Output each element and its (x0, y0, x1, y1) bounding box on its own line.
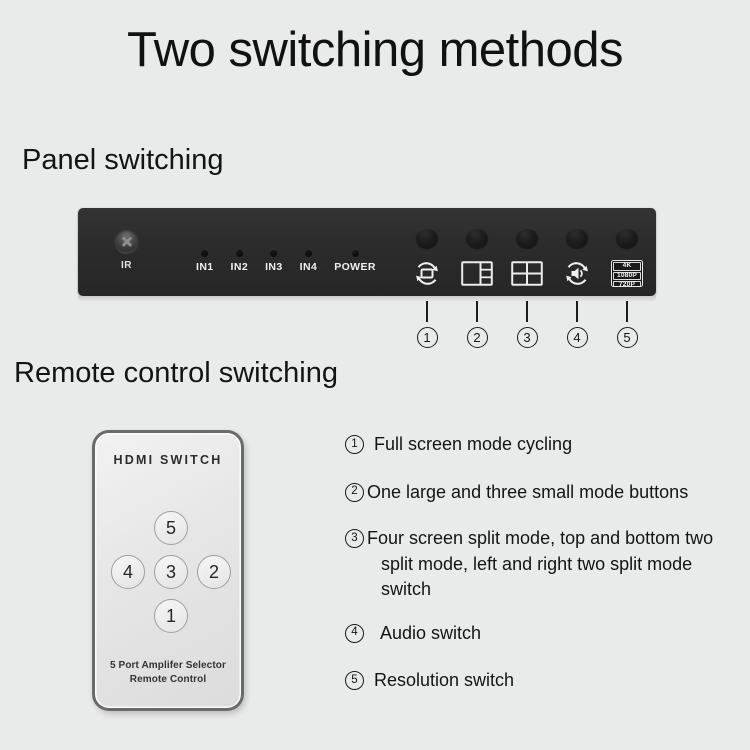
legend-item-2: 2 One large and three small mode buttons (345, 480, 745, 506)
legend-item-3: 3 Four screen split mode, top and bottom… (345, 526, 745, 603)
callout-leader-line (626, 301, 629, 322)
legend-label: Audio switch (380, 621, 481, 647)
remote-footer-line-1: 5 Port Amplifer Selector (110, 660, 226, 671)
led-indicator-power: POWER (334, 250, 376, 273)
one-large-three-small-layout-icon (461, 260, 493, 287)
led-dot-icon (305, 250, 312, 257)
button-cap[interactable] (566, 228, 588, 248)
button-cap[interactable] (516, 228, 538, 248)
legend-list: 1 Full screen mode cycling 2 One large a… (345, 432, 745, 713)
panel-button-one-large-three-small[interactable] (462, 228, 492, 287)
callout-2: 2 (462, 301, 492, 348)
ir-sensor-icon (114, 229, 139, 254)
remote-keypad: 5 4 3 2 1 (95, 511, 241, 636)
led-dot-icon (236, 250, 243, 257)
resolution-line-1080p: 1080P (613, 272, 641, 281)
led-dot-icon (270, 250, 277, 257)
legend-item-1: 1 Full screen mode cycling (345, 432, 745, 458)
led-indicator-in4: IN4 (300, 250, 318, 273)
infographic-page: Two switching methods Panel switching IR… (0, 0, 750, 750)
callout-5: 5 (612, 301, 642, 348)
led-indicator-in3: IN3 (265, 250, 283, 273)
led-dot-icon (201, 250, 208, 257)
panel-button-resolution-switch[interactable]: 4K 1080P 720P (612, 228, 642, 287)
legend-label: Full screen mode cycling (374, 432, 572, 458)
led-indicator-in1: IN1 (196, 250, 214, 273)
remote-key-1[interactable]: 1 (154, 599, 188, 633)
legend-number: 3 (345, 529, 364, 548)
panel-button-audio-switch[interactable] (562, 228, 592, 287)
callout-number: 1 (417, 327, 438, 348)
callout-number: 5 (617, 327, 638, 348)
panel-button-quad-split[interactable] (512, 228, 542, 287)
resolution-switch-icon: 4K 1080P 720P (611, 260, 643, 287)
legend-number: 2 (345, 483, 364, 502)
panel-button-full-screen-cycle[interactable] (412, 228, 442, 287)
remote-control: HDMI SWITCH 5 4 3 2 1 5 Port Amplifer Se… (92, 430, 244, 711)
device-front-panel: IR IN1 IN2 IN3 IN4 POWER (78, 208, 656, 296)
resolution-line-720p: 720P (613, 281, 641, 287)
legend-number: 1 (345, 435, 364, 454)
quad-split-layout-icon (511, 260, 543, 287)
callout-number: 2 (467, 327, 488, 348)
callout-leader-line (526, 301, 529, 322)
ir-label: IR (114, 260, 139, 271)
callout-group: 1 2 3 4 5 (412, 301, 642, 348)
legend-label: Four screen split mode, top and bottom t… (367, 526, 745, 603)
button-cap[interactable] (466, 228, 488, 248)
callout-leader-line (576, 301, 579, 322)
remote-footer-line-2: Remote Control (130, 674, 206, 685)
callout-number: 4 (567, 327, 588, 348)
led-dot-icon (352, 250, 359, 257)
led-label: IN2 (231, 261, 249, 273)
led-label: IN3 (265, 261, 283, 273)
page-title: Two switching methods (0, 22, 750, 78)
legend-item-5: 5 Resolution switch (345, 668, 745, 694)
led-label: IN4 (300, 261, 318, 273)
led-label: POWER (334, 261, 376, 273)
full-screen-cycle-icon (411, 260, 443, 287)
remote-key-2[interactable]: 2 (197, 555, 231, 589)
callout-leader-line (426, 301, 429, 322)
led-label: IN1 (196, 261, 214, 273)
callout-leader-line (476, 301, 479, 322)
remote-key-5[interactable]: 5 (154, 511, 188, 545)
remote-brand-label: HDMI SWITCH (95, 453, 241, 467)
legend-number: 4 (345, 624, 364, 643)
button-cap[interactable] (616, 228, 638, 248)
callout-number: 3 (517, 327, 538, 348)
remote-key-4[interactable]: 4 (111, 555, 145, 589)
led-indicator-in2: IN2 (231, 250, 249, 273)
legend-label: Resolution switch (374, 668, 514, 694)
section-heading-panel-switching: Panel switching (22, 144, 224, 177)
remote-footer-text: 5 Port Amplifer Selector Remote Control (95, 659, 241, 686)
legend-label: One large and three small mode buttons (367, 480, 688, 506)
section-heading-remote-control-switching: Remote control switching (14, 357, 338, 390)
legend-label-line-2: split mode, left and right two split mod… (367, 552, 745, 603)
callout-3: 3 (512, 301, 542, 348)
legend-number: 5 (345, 671, 364, 690)
legend-item-4: 4 Audio switch (345, 621, 745, 647)
panel-button-row: 4K 1080P 720P (412, 228, 642, 287)
callout-4: 4 (562, 301, 592, 348)
led-indicator-group: IN1 IN2 IN3 IN4 POWER (196, 250, 376, 273)
audio-switch-icon (561, 260, 593, 287)
button-cap[interactable] (416, 228, 438, 248)
callout-1: 1 (412, 301, 442, 348)
resolution-line-4k: 4K (613, 262, 641, 271)
legend-label-line-1: Four screen split mode, top and bottom t… (367, 528, 713, 548)
remote-key-3[interactable]: 3 (154, 555, 188, 589)
